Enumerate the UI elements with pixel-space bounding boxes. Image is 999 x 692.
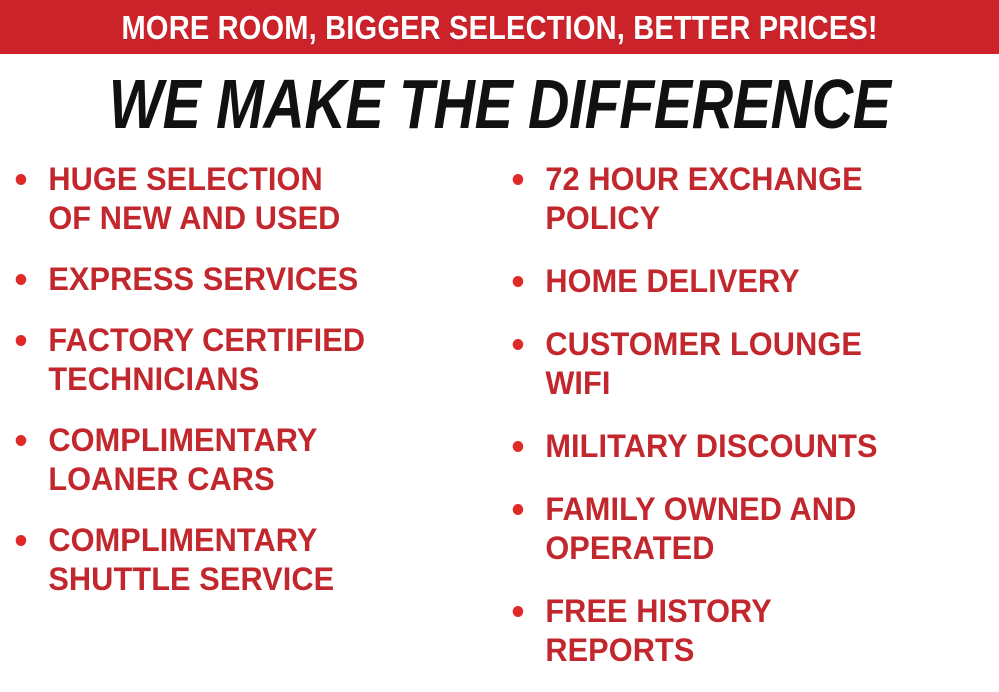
feature-list-right: 72 HOUR EXCHANGE POLICY HOME DELIVERY CU… [505, 160, 985, 670]
list-item-label: FACTORY CERTIFIED TECHNICIANS [48, 321, 468, 399]
list-item-label: MILITARY DISCOUNTS [545, 427, 965, 466]
list-item-label: EXPRESS SERVICES [48, 260, 468, 299]
headline-container: WE MAKE THE DIFFERENCE [0, 68, 999, 140]
list-item-label: HOME DELIVERY [545, 262, 965, 301]
feature-list-left: HUGE SELECTION OF NEW AND USED EXPRESS S… [8, 160, 488, 599]
list-item: EXPRESS SERVICES [8, 260, 469, 299]
page-title: WE MAKE THE DIFFERENCE [109, 69, 891, 139]
list-item-label: FAMILY OWNED AND OPERATED [545, 490, 965, 568]
list-item: FREE HISTORY REPORTS [505, 592, 966, 670]
list-item: FACTORY CERTIFIED TECHNICIANS [8, 321, 469, 399]
list-item-label: 72 HOUR EXCHANGE POLICY [545, 160, 965, 238]
list-item-label: COMPLIMENTARY SHUTTLE SERVICE [48, 521, 468, 599]
list-item: COMPLIMENTARY SHUTTLE SERVICE [8, 521, 469, 599]
advertisement-banner: MORE ROOM, BIGGER SELECTION, BETTER PRIC… [0, 0, 999, 692]
bullet-dot-icon [513, 339, 524, 350]
bullet-dot-icon [16, 435, 27, 446]
list-item-label: CUSTOMER LOUNGE WIFI [545, 325, 965, 403]
list-item-label: FREE HISTORY REPORTS [545, 592, 965, 670]
list-item: COMPLIMENTARY LOANER CARS [8, 421, 469, 499]
list-item: HOME DELIVERY [505, 262, 966, 301]
list-item-label: HUGE SELECTION OF NEW AND USED [48, 160, 468, 238]
list-item: FAMILY OWNED AND OPERATED [505, 490, 966, 568]
promo-banner-text: MORE ROOM, BIGGER SELECTION, BETTER PRIC… [121, 11, 877, 44]
features-columns: HUGE SELECTION OF NEW AND USED EXPRESS S… [0, 160, 999, 692]
bullet-dot-icon [513, 174, 524, 185]
top-promo-banner: MORE ROOM, BIGGER SELECTION, BETTER PRIC… [0, 0, 999, 54]
bullet-dot-icon [16, 335, 27, 346]
bullet-dot-icon [513, 504, 524, 515]
features-column-left: HUGE SELECTION OF NEW AND USED EXPRESS S… [8, 160, 488, 621]
bullet-dot-icon [16, 535, 27, 546]
bullet-dot-icon [16, 174, 27, 185]
list-item: HUGE SELECTION OF NEW AND USED [8, 160, 469, 238]
bullet-dot-icon [513, 441, 524, 452]
list-item: MILITARY DISCOUNTS [505, 427, 966, 466]
list-item: 72 HOUR EXCHANGE POLICY [505, 160, 966, 238]
features-column-right: 72 HOUR EXCHANGE POLICY HOME DELIVERY CU… [505, 160, 985, 692]
bullet-dot-icon [16, 274, 27, 285]
list-item-label: COMPLIMENTARY LOANER CARS [48, 421, 468, 499]
list-item: CUSTOMER LOUNGE WIFI [505, 325, 966, 403]
bullet-dot-icon [513, 606, 524, 617]
bullet-dot-icon [513, 276, 524, 287]
